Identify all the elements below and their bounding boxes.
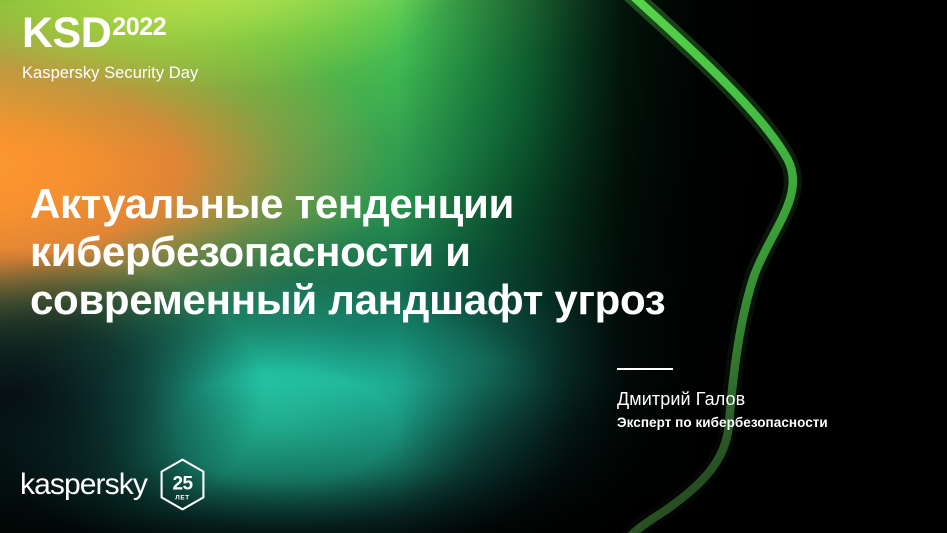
anniversary-badge-number: 25 (172, 474, 193, 495)
kaspersky-logo: kaspersky 25 ЛЕТ (20, 458, 206, 511)
event-logo-lockup: KSD 2022 Kaspersky Security Day (22, 14, 198, 81)
speaker-divider-rule (617, 368, 673, 370)
speaker-name: Дмитрий Галов (617, 387, 828, 411)
event-logo-mark: KSD (22, 14, 111, 54)
event-logo-row: KSD 2022 (22, 14, 198, 54)
slide-title-line-1: Актуальные тенденции (30, 180, 840, 228)
speaker-credit: Дмитрий Галов Эксперт по кибербезопаснос… (617, 368, 828, 433)
anniversary-badge-icon: 25 ЛЕТ (159, 458, 206, 511)
speaker-role: Эксперт по кибербезопасности (617, 413, 828, 433)
kaspersky-wordmark: kaspersky (20, 470, 147, 500)
slide-title: Актуальные тенденции кибербезопасности и… (30, 180, 840, 324)
anniversary-badge-caption: ЛЕТ (175, 495, 189, 502)
event-logo-year: 2022 (112, 15, 166, 40)
slide-title-line-3: современный ландшафт угроз (30, 276, 840, 324)
event-logo-subtitle: Kaspersky Security Day (22, 65, 198, 82)
slide-title-line-2: кибербезопасности и (30, 228, 840, 276)
presentation-slide: KSD 2022 Kaspersky Security Day Актуальн… (0, 0, 947, 533)
